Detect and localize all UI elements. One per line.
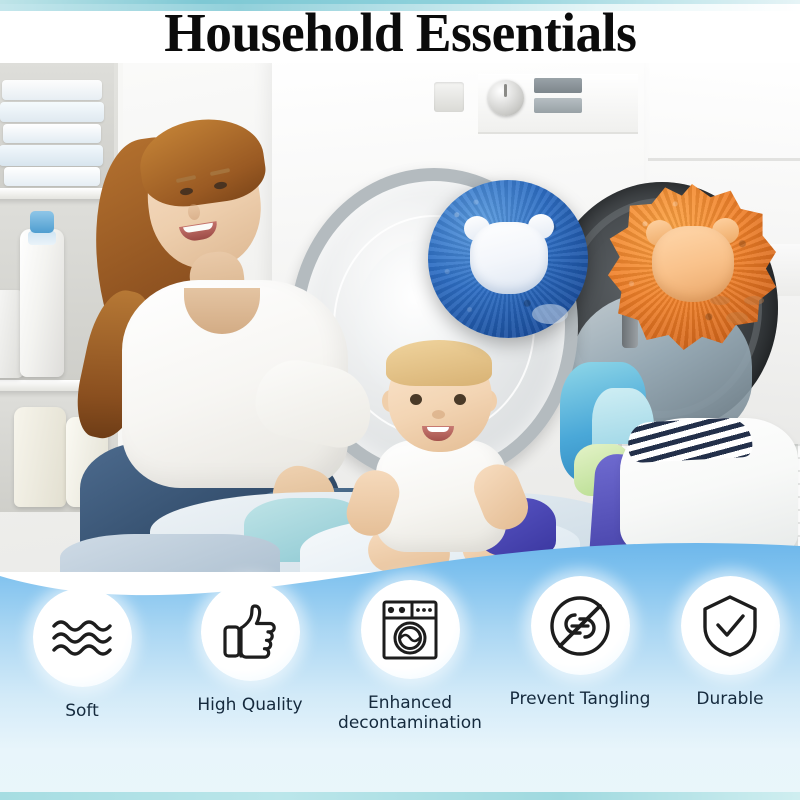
bottle-cap xyxy=(30,211,54,233)
feature-label-line1: High Quality xyxy=(170,695,330,715)
feature-label-line1: Prevent Tangling xyxy=(500,689,660,709)
thumbs-up-icon xyxy=(222,603,278,661)
detergent-drawer xyxy=(434,82,464,112)
feature-icon-circle xyxy=(681,576,780,675)
lion-eye xyxy=(710,296,730,305)
page-title: Household Essentials xyxy=(164,4,636,62)
baby-eye xyxy=(454,394,466,405)
feature-item-high-quality: High Quality xyxy=(170,582,330,715)
detergent-bottle xyxy=(14,407,66,507)
product-poster: Household Essentials xyxy=(0,0,800,800)
folded-towel xyxy=(2,80,102,100)
hero-photo xyxy=(0,62,800,572)
lion-eye xyxy=(744,296,764,305)
feature-item-prevent-tangling: Prevent Tangling xyxy=(500,576,660,709)
feature-item-decontamination: Enhanced decontamination xyxy=(330,580,490,733)
striped-shirt xyxy=(627,417,753,463)
feature-list: Soft High Quality xyxy=(0,524,800,800)
folded-towel xyxy=(4,167,100,186)
feature-label: Enhanced decontamination xyxy=(330,693,490,733)
baby-eye xyxy=(410,394,422,405)
display-screen xyxy=(534,78,582,93)
feature-icon-circle xyxy=(531,576,630,675)
display-screen xyxy=(534,98,582,113)
feature-icon-circle xyxy=(33,588,132,687)
feature-label-line1: Soft xyxy=(2,701,162,721)
bottle-neck xyxy=(28,231,56,245)
shield-check-icon xyxy=(701,594,759,658)
bear-snout xyxy=(532,304,568,324)
top-accent-strip xyxy=(0,0,800,4)
feature-label: Prevent Tangling xyxy=(500,689,660,709)
feature-icon-circle xyxy=(201,582,300,681)
washing-machine-icon xyxy=(381,599,439,661)
feature-label-line1: Enhanced xyxy=(330,693,490,713)
bear-face-icon xyxy=(470,222,548,294)
blue-lint-ball xyxy=(428,180,588,338)
feature-label: High Quality xyxy=(170,695,330,715)
waves-icon xyxy=(50,615,114,661)
lion-face-icon xyxy=(652,226,734,302)
title-band: Household Essentials xyxy=(0,3,800,63)
feature-item-durable: Durable xyxy=(650,576,800,709)
feature-label-line1: Durable xyxy=(650,689,800,709)
appliance-seam xyxy=(648,158,800,161)
folded-towel xyxy=(3,124,101,143)
orange-lint-ball xyxy=(608,184,776,350)
baby-nose xyxy=(432,410,445,419)
feature-label-line2: decontamination xyxy=(330,713,490,733)
detergent-bottle xyxy=(20,229,64,377)
feature-band: Soft High Quality xyxy=(0,524,800,800)
baby-hair xyxy=(386,340,492,386)
feature-label: Soft xyxy=(2,701,162,721)
feature-icon-circle xyxy=(361,580,460,679)
feature-label: Durable xyxy=(650,689,800,709)
no-tangle-icon xyxy=(548,594,612,658)
bottom-accent-strip xyxy=(0,792,800,800)
program-knob xyxy=(488,80,524,116)
feature-item-soft: Soft xyxy=(2,588,162,721)
lion-nose xyxy=(726,312,748,324)
